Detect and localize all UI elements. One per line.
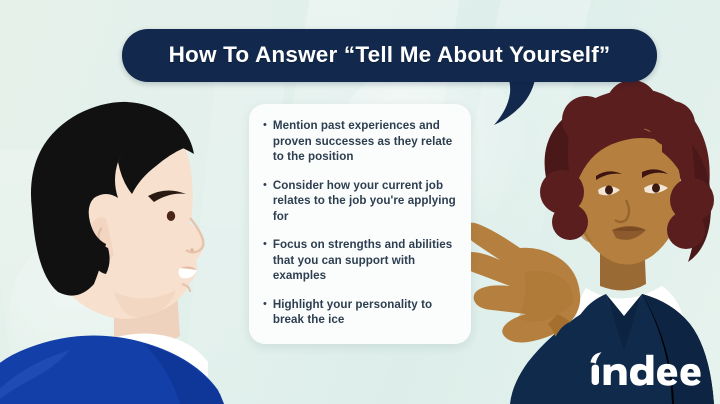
list-item: • Consider how your current job relates … [263,178,459,225]
bullet-icon: • [263,297,267,313]
list-item-text: Focus on strengths and abilities that yo… [273,237,459,284]
page-title: How To Answer “Tell Me About Yourself” [169,44,611,67]
list-item-text: Highlight your personality to break the … [273,297,459,328]
list-item-text: Consider how your current job relates to… [273,178,459,225]
bullet-icon: • [263,178,267,194]
bullet-icon: • [263,237,267,253]
indeed-logo [586,350,706,390]
bullet-icon: • [263,118,267,134]
man-illustration [0,78,262,404]
title-banner: How To Answer “Tell Me About Yourself” [122,29,657,82]
tips-card: • Mention past experiences and proven su… [249,104,471,344]
list-item: • Highlight your personality to break th… [263,297,459,328]
infographic-canvas: How To Answer “Tell Me About Yourself” •… [0,0,720,404]
logo-arc-icon [591,352,602,363]
list-item: • Focus on strengths and abilities that … [263,237,459,284]
list-item: • Mention past experiences and proven su… [263,118,459,165]
list-item-text: Mention past experiences and proven succ… [273,118,459,165]
